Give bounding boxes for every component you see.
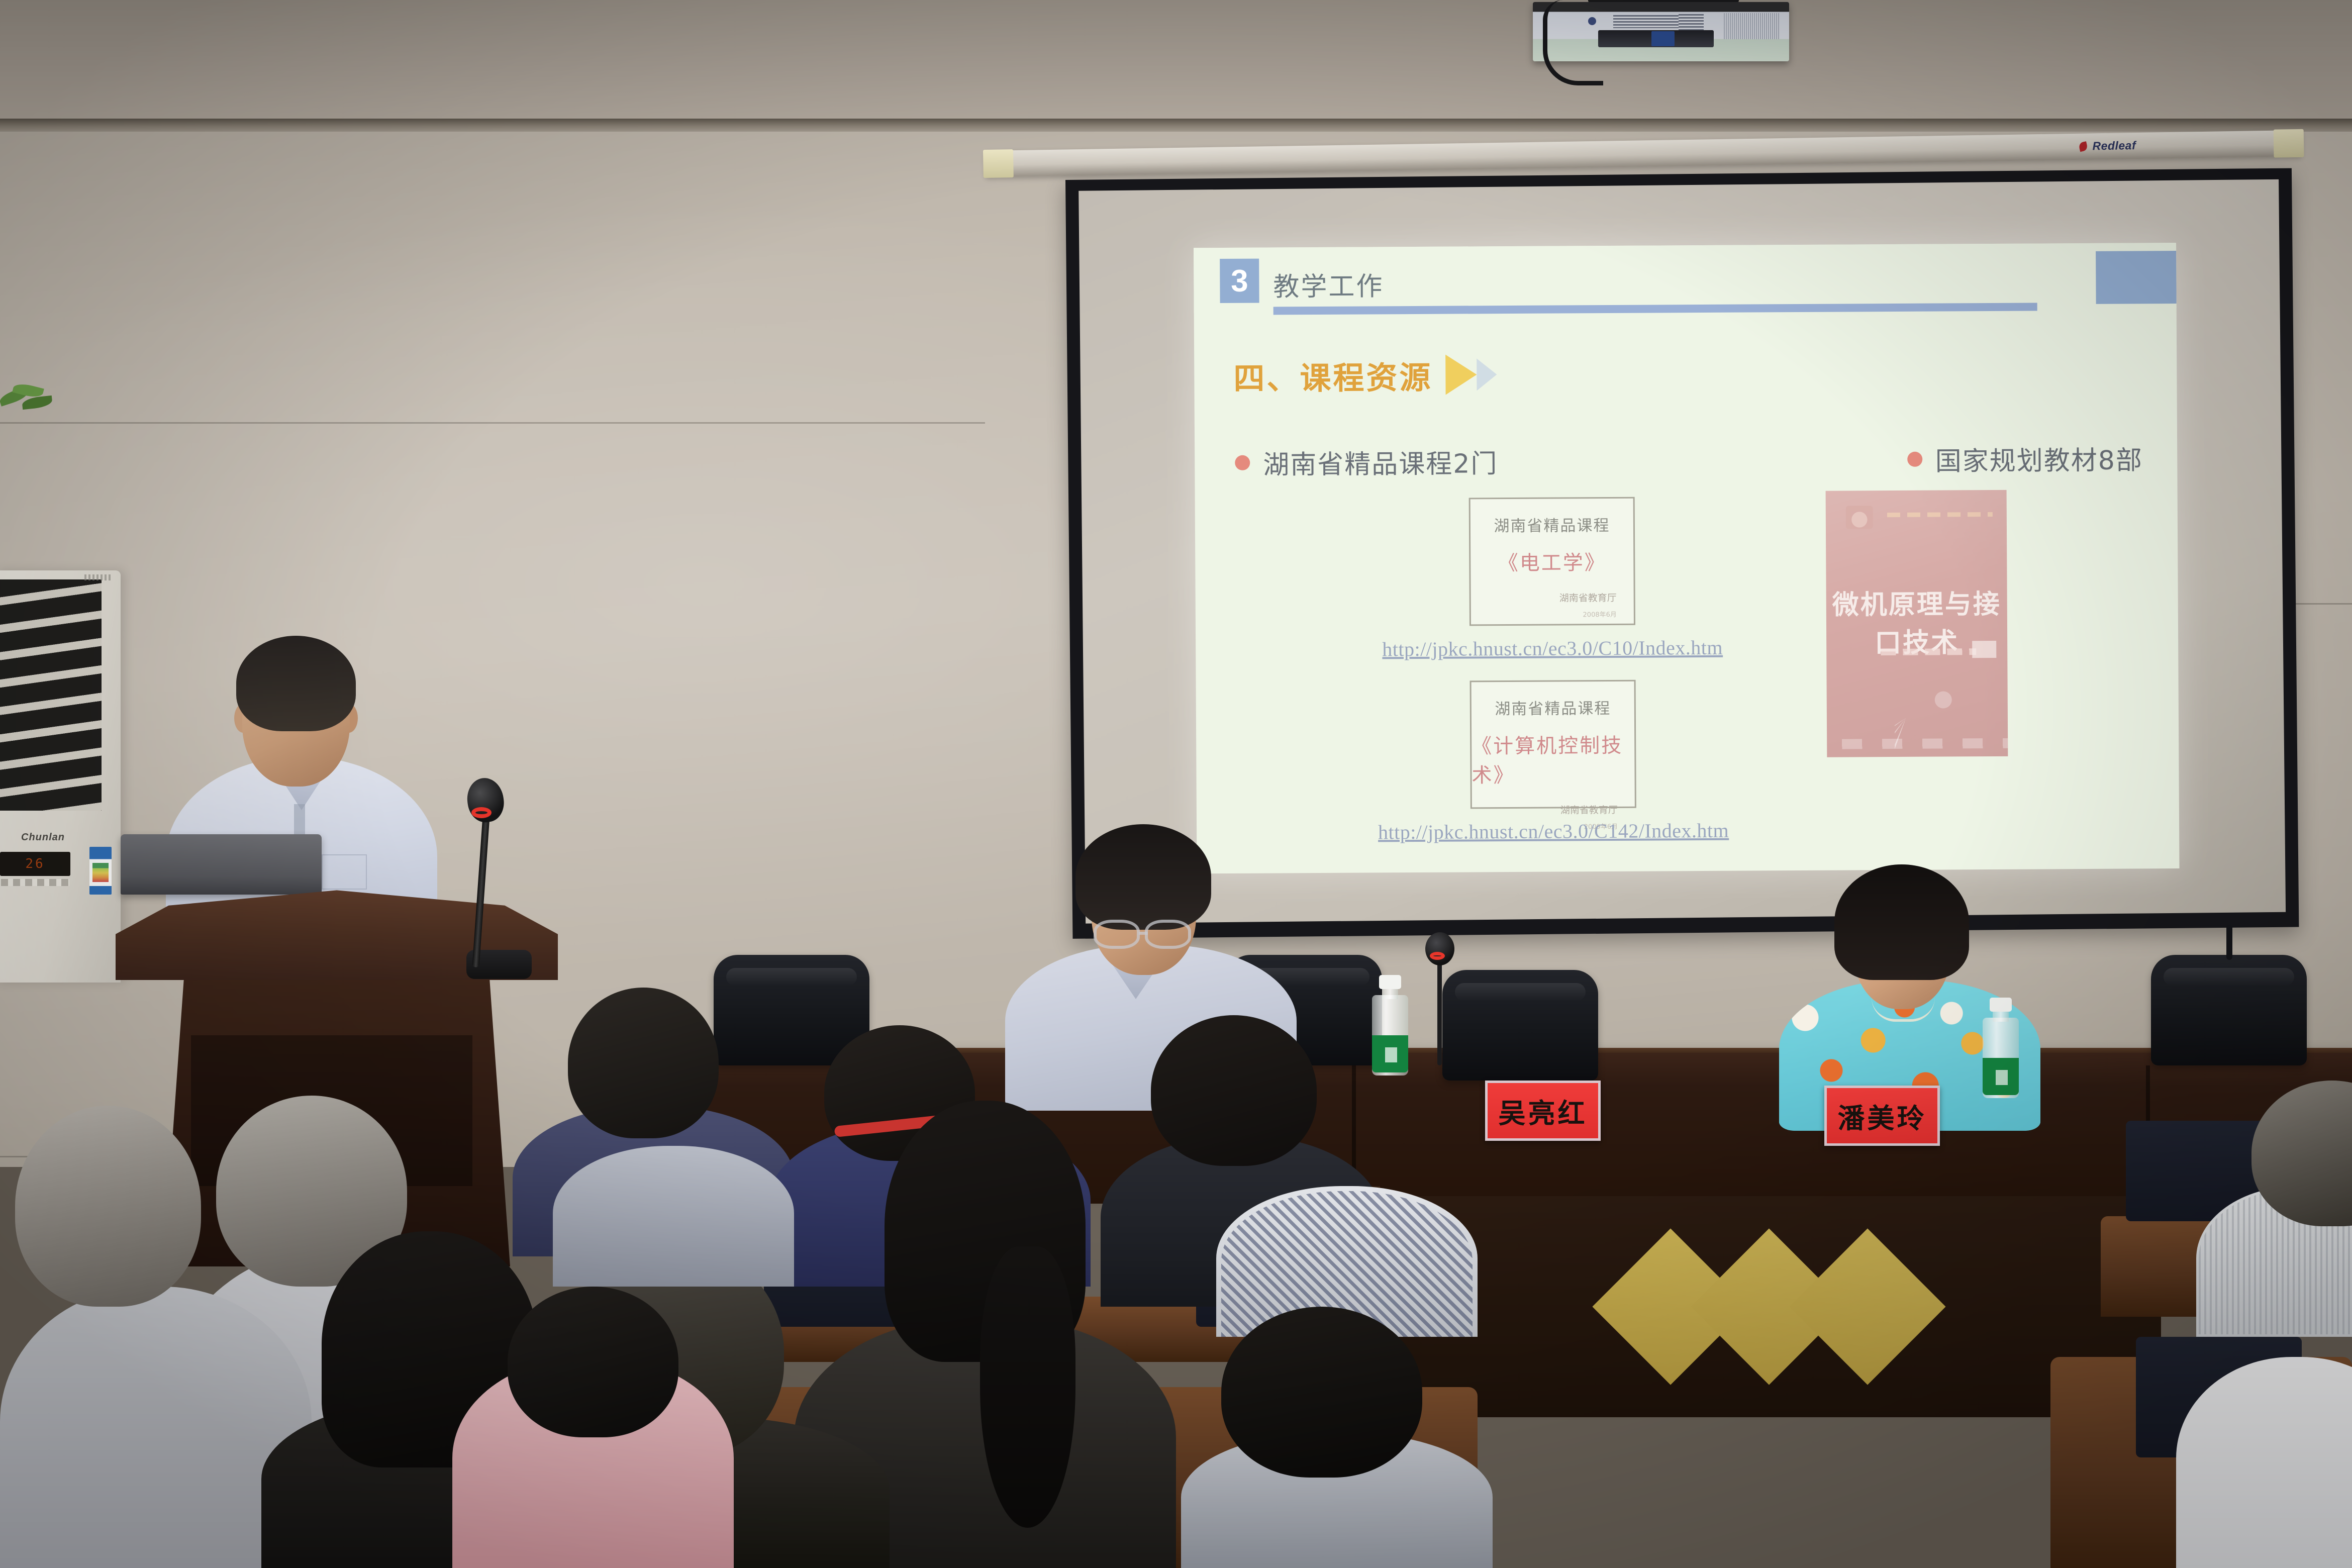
speaker-hair bbox=[236, 636, 356, 731]
screen-housing-cap-left bbox=[983, 149, 1014, 178]
textbook-dot-graphic bbox=[1935, 691, 1952, 708]
slide-section-title: 四、课程资源 bbox=[1233, 352, 1432, 399]
textbook-edition-badge bbox=[1972, 641, 1996, 658]
projection-screen-surface: 3 教学工作 四、课程资源 湖南省精品课程2门 bbox=[1079, 179, 2286, 924]
audience-member-ponytail bbox=[980, 1246, 1075, 1528]
nameplate-wu-lianghong: 吴亮红 bbox=[1485, 1081, 1601, 1141]
air-conditioner[interactable]: Chunlan 26 bbox=[0, 570, 121, 983]
potted-plant bbox=[0, 382, 56, 417]
certificate-card-electrotechnics: 湖南省精品课程 《电工学》 湖南省教育厅 2008年6月 bbox=[1469, 497, 1635, 626]
audience-member-head bbox=[508, 1287, 678, 1437]
panelist-right-hair bbox=[1834, 864, 1969, 980]
audience-member-head bbox=[568, 988, 719, 1138]
slide-bullet-column-left: 湖南省精品课程2门 bbox=[1195, 441, 1686, 481]
ceiling bbox=[0, 0, 2352, 126]
bullet-label-courses: 湖南省精品课程2门 bbox=[1263, 442, 1498, 481]
lecture-hall-scene: Redleaf 3 教学工作 四、课程资源 bbox=[0, 0, 2352, 1568]
certificate-heading: 湖南省精品课程 bbox=[1494, 513, 1610, 536]
bottle-label-mark bbox=[1385, 1047, 1397, 1062]
bullet-item-textbooks: 国家规划教材8部 bbox=[1907, 439, 2178, 478]
ceiling-projector bbox=[1533, 0, 1789, 72]
projector-vga-port bbox=[1651, 31, 1675, 46]
certificate-url-computer-control[interactable]: http://jpkc.hnust.cn/ec3.0/C142/Index.ht… bbox=[1362, 819, 1744, 844]
panelist-left-hair bbox=[1075, 824, 1211, 930]
audience-member-shoulders bbox=[553, 1146, 794, 1287]
executive-chair[interactable] bbox=[1442, 970, 1598, 1081]
eyeglasses-right-lens-icon bbox=[1145, 920, 1191, 949]
leaf-icon bbox=[22, 396, 53, 410]
podium-microphone-led-ring bbox=[471, 807, 492, 818]
bullet-label-textbooks: 国家规划教材8部 bbox=[1935, 439, 2143, 477]
slide-header-title: 教学工作 bbox=[1273, 265, 1384, 303]
wall-seam-upper bbox=[0, 422, 985, 424]
table-microphone-led-ring bbox=[1430, 952, 1445, 960]
diamond-inlay-icon bbox=[1789, 1228, 1945, 1385]
certificate-stack: 湖南省精品课程 《电工学》 湖南省教育厅 2008年6月 http://jpkc… bbox=[1361, 497, 1745, 864]
audience-member-head bbox=[15, 1106, 201, 1307]
table-microphone-head bbox=[1425, 932, 1454, 965]
water-bottle[interactable] bbox=[1983, 998, 2019, 1098]
certificate-url-electrotechnics[interactable]: http://jpkc.hnust.cn/ec3.0/C10/Index.htm bbox=[1361, 636, 1743, 661]
nameplate-pan-meiling: 潘美玲 bbox=[1824, 1086, 1940, 1146]
slide-section-number: 3 bbox=[1220, 259, 1259, 303]
eyeglasses-left-lens-icon bbox=[1094, 920, 1140, 949]
certificate-date: 2008年6月 bbox=[1583, 609, 1616, 619]
nameplate-label: 潘美玲 bbox=[1838, 1096, 1927, 1136]
executive-chair[interactable] bbox=[2151, 955, 2307, 1065]
screen-brand-label: Redleaf bbox=[2092, 139, 2136, 153]
red-leaf-icon bbox=[2079, 141, 2089, 152]
certificate-heading: 湖南省精品课程 bbox=[1495, 696, 1611, 719]
air-conditioner-temperature: 26 bbox=[25, 856, 45, 871]
water-bottle[interactable] bbox=[1372, 975, 1408, 1075]
head-table-front-panel bbox=[1377, 1196, 2161, 1417]
projector-power-cable bbox=[1543, 0, 1603, 85]
bottle-cap bbox=[1379, 975, 1401, 989]
certificate-card-computer-control: 湖南省精品课程 《计算机控制技术》 湖南省教育厅 2009年6月 bbox=[1470, 680, 1636, 809]
chair-support-post bbox=[2226, 925, 2232, 960]
projection-screen-frame: 3 教学工作 四、课程资源 湖南省精品课程2门 bbox=[1065, 168, 2299, 939]
air-conditioner-display: 26 bbox=[0, 852, 70, 876]
bottle-label-mark bbox=[1996, 1070, 2008, 1085]
audience-member-head bbox=[1151, 1015, 1317, 1166]
certificate-issuer: 湖南省教育厅 bbox=[1560, 803, 1618, 817]
table-microphone-stem bbox=[1437, 950, 1442, 1065]
bottle-cap bbox=[1990, 998, 2012, 1012]
textbook-author-line bbox=[1881, 648, 1976, 655]
wall-seam-right bbox=[2292, 603, 2352, 605]
publisher-emblem-icon bbox=[1846, 506, 1873, 529]
slide-bullet-column-right: 国家规划教材8部 bbox=[1686, 439, 2178, 479]
textbook-publisher-line bbox=[1827, 738, 2008, 749]
air-conditioner-top-label bbox=[84, 574, 113, 580]
slide-bullet-row: 湖南省精品课程2门 国家规划教材8部 bbox=[1195, 439, 2177, 481]
textbook-cover: 微机原理与接口技术 bbox=[1826, 490, 2008, 757]
bullet-dot-icon bbox=[1235, 455, 1250, 470]
eyeglasses-bridge-icon bbox=[1139, 932, 1148, 935]
air-conditioner-louvers bbox=[0, 579, 102, 811]
bullet-item-courses: 湖南省精品课程2门 bbox=[1235, 441, 1686, 481]
screen-housing-cap-right bbox=[2274, 129, 2304, 158]
audience-member-head bbox=[1221, 1307, 1422, 1478]
air-conditioner-brand-label: Chunlan bbox=[21, 832, 65, 843]
slide-section-heading: 四、课程资源 bbox=[1233, 352, 1497, 399]
textbook-fan-graphic-small bbox=[1895, 706, 1971, 757]
slide-accent-block bbox=[2096, 251, 2177, 304]
play-triangle-icon bbox=[1445, 354, 1477, 395]
screen-brand-logo: Redleaf bbox=[2079, 139, 2136, 153]
nameplate-label: 吴亮红 bbox=[1499, 1091, 1588, 1131]
certificate-course-name: 《计算机控制技术》 bbox=[1472, 729, 1635, 789]
projected-slide: 3 教学工作 四、课程资源 湖南省精品课程2门 bbox=[1194, 243, 2179, 873]
textbook-series-line bbox=[1887, 512, 1993, 517]
certificate-course-name: 《电工学》 bbox=[1498, 546, 1606, 576]
bullet-dot-icon bbox=[1907, 451, 1922, 466]
projector-speaker-mesh bbox=[1724, 13, 1779, 39]
energy-rating-bars-icon bbox=[92, 863, 109, 882]
certificate-issuer: 湖南省教育厅 bbox=[1559, 591, 1617, 605]
air-conditioner-button-row[interactable] bbox=[1, 879, 69, 886]
play-triangle-shadow-icon bbox=[1477, 358, 1497, 390]
